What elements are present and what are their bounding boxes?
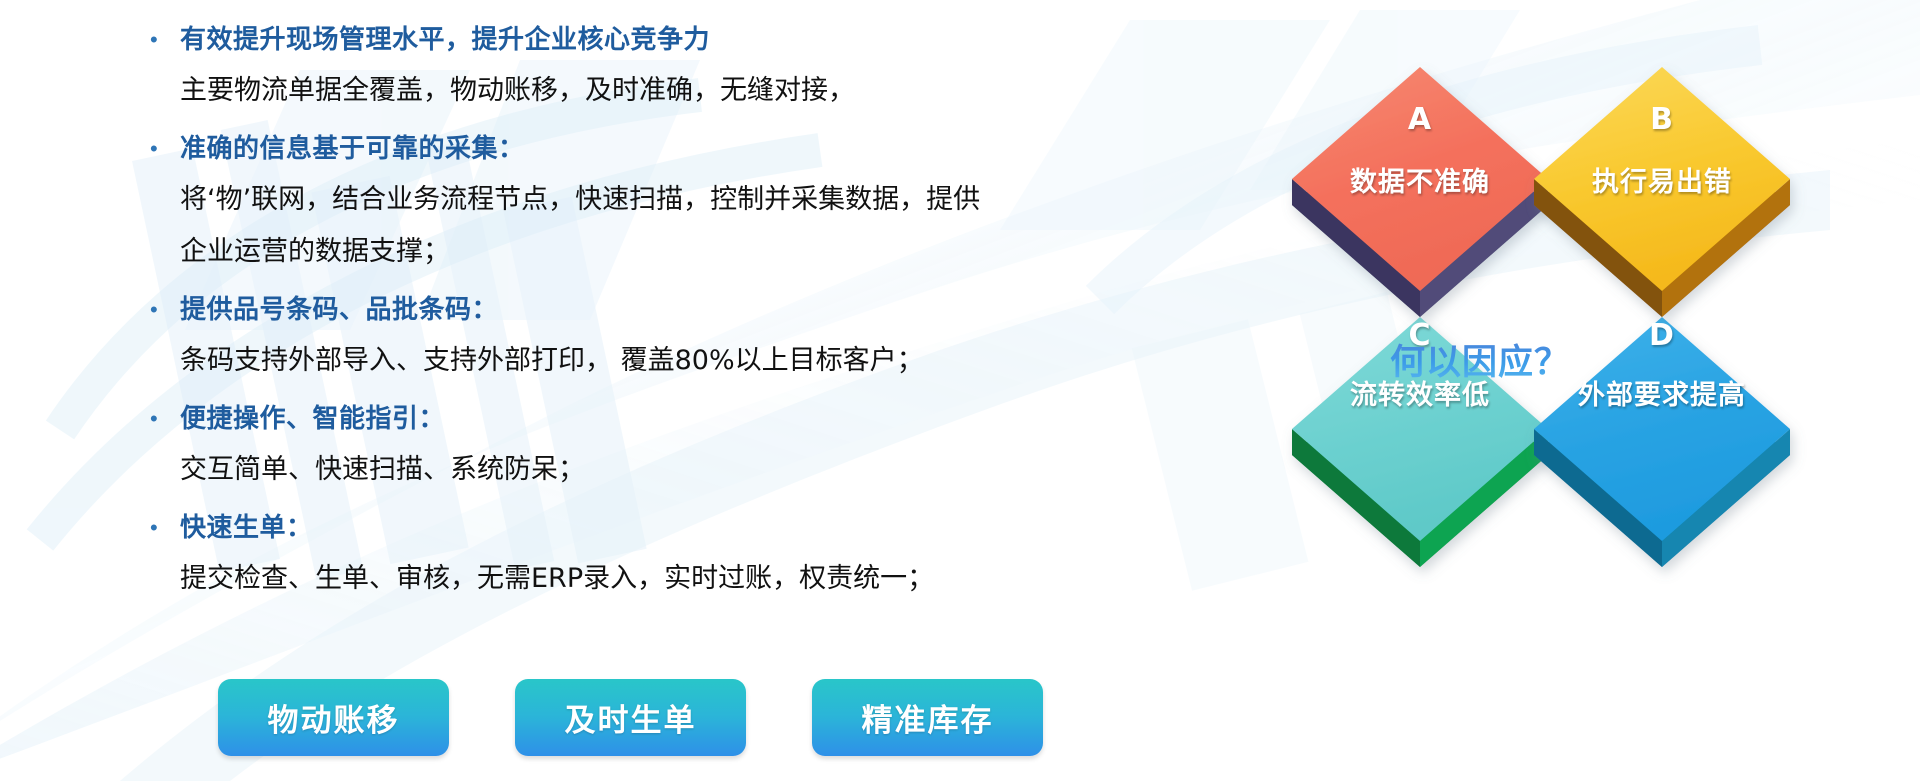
bullet-subline: 交互简单、快速扫描、系统防呆；: [180, 444, 1100, 496]
bullet-dot-icon: •: [140, 503, 180, 553]
bullet-row: • 提供品号条码、品批条码：: [140, 285, 1100, 335]
bullet-row: • 快速生单：: [140, 503, 1100, 553]
button-jishi-shengdan[interactable]: 及时生单: [515, 679, 746, 756]
bullet-block-4: • 便捷操作、智能指引： 交互简单、快速扫描、系统防呆；: [140, 394, 1100, 496]
bullet-block-5: • 快速生单： 提交检查、生单、审核，无需ERP录入，实时过账，权责统一；: [140, 503, 1100, 605]
bullet-dot-icon: •: [140, 124, 180, 174]
bullet-dot-icon: •: [140, 285, 180, 335]
bullet-heading: 快速生单：: [180, 503, 313, 553]
bullet-subline: 条码支持外部导入、支持外部打印， 覆盖80%以上目标客户；: [180, 335, 1100, 387]
bullet-row: • 便捷操作、智能指引：: [140, 394, 1100, 444]
bullet-row: • 有效提升现场管理水平，提升企业核心竞争力: [140, 15, 1100, 65]
center-question-text: 何以因应？: [1390, 334, 1570, 385]
bullet-block-2: • 准确的信息基于可靠的采集： 将‘物’联网，结合业务流程节点，快速扫描，控制并…: [140, 124, 1100, 278]
button-jingzhun-kucun[interactable]: 精准库存: [812, 679, 1043, 756]
diamond-tile-d[interactable]: [1534, 317, 1790, 567]
bullet-block-1: • 有效提升现场管理水平，提升企业核心竞争力 主要物流单据全覆盖，物动账移，及时…: [140, 15, 1100, 117]
bullet-dot-icon: •: [140, 15, 180, 65]
bullet-dot-icon: •: [140, 394, 180, 444]
bullet-row: • 准确的信息基于可靠的采集：: [140, 124, 1100, 174]
action-button-group: 物动账移 及时生单 精准库存: [218, 679, 1043, 756]
bullet-heading: 准确的信息基于可靠的采集：: [180, 124, 525, 174]
bullet-heading: 便捷操作、智能指引：: [180, 394, 445, 444]
bullet-subline: 主要物流单据全覆盖，物动账移，及时准确，无缝对接，: [180, 65, 1100, 117]
diamond-tile-a[interactable]: [1292, 67, 1548, 317]
slide-canvas: • 有效提升现场管理水平，提升企业核心竞争力 主要物流单据全覆盖，物动账移，及时…: [0, 0, 1920, 781]
bullet-subline: 企业运营的数据支撑；: [180, 226, 1100, 278]
bullet-content: • 有效提升现场管理水平，提升企业核心竞争力 主要物流单据全覆盖，物动账移，及时…: [140, 8, 1100, 605]
bullet-heading: 提供品号条码、品批条码：: [180, 285, 498, 335]
diamond-tile-b[interactable]: [1534, 67, 1790, 317]
bullet-block-3: • 提供品号条码、品批条码： 条码支持外部导入、支持外部打印， 覆盖80%以上目…: [140, 285, 1100, 387]
bullet-heading: 有效提升现场管理水平，提升企业核心竞争力: [180, 15, 710, 65]
bullet-subline: 将‘物’联网，结合业务流程节点，快速扫描，控制并采集数据，提供: [180, 174, 1100, 226]
button-wudong-zhangyi[interactable]: 物动账移: [218, 679, 449, 756]
bullet-subline: 提交检查、生单、审核，无需ERP录入，实时过账，权责统一；: [180, 553, 1100, 605]
